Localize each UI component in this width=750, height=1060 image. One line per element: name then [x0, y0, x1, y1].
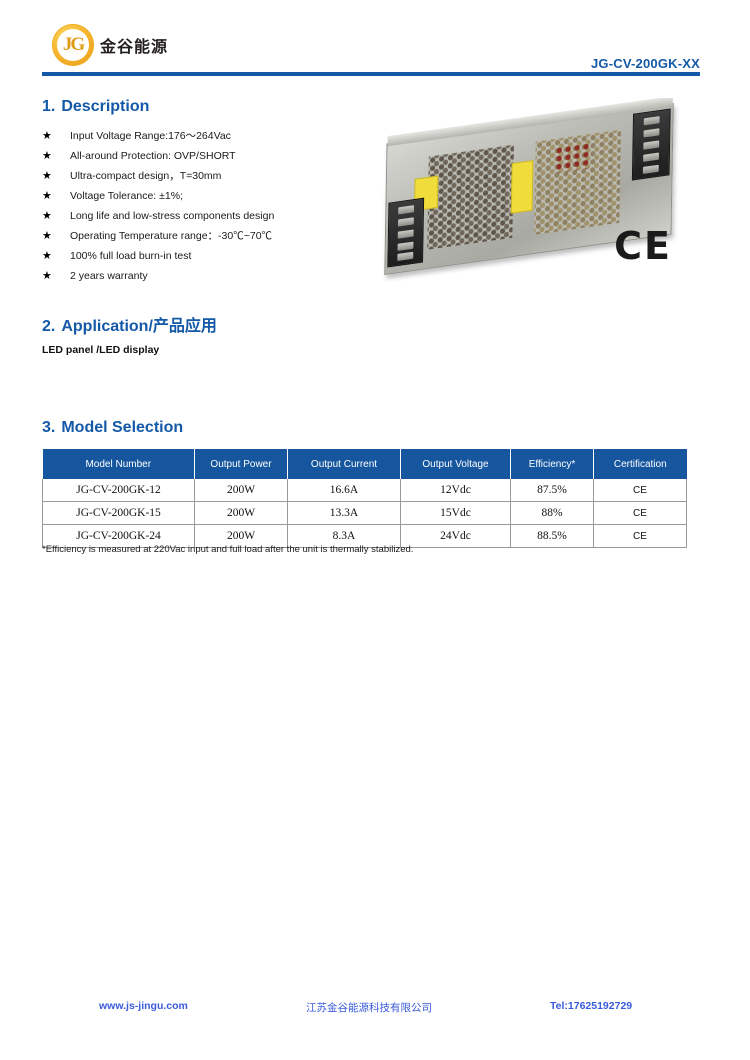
company-logo: JG 金谷能源	[52, 24, 168, 66]
star-bullet-icon: ★	[42, 206, 70, 226]
star-bullet-icon: ★	[42, 166, 70, 186]
cell-model-number: JG-CV-200GK-12	[43, 479, 195, 502]
logo-company-name: 金谷能源	[100, 33, 168, 57]
table-row: JG-CV-200GK-15 200W 13.3A 15Vdc 88% CE	[43, 502, 687, 525]
description-bullet-text: Input Voltage Range:176～264Vac	[70, 126, 231, 146]
logo-initials: JG	[52, 24, 94, 66]
cell-output-voltage: 15Vdc	[401, 502, 511, 525]
description-bullet-text: All-around Protection: OVP/SHORT	[70, 146, 236, 166]
star-bullet-icon: ★	[42, 266, 70, 286]
cell-certification: CE	[594, 525, 687, 548]
section-heading-application: 2.Application/产品应用	[42, 312, 217, 336]
model-selection-table: Model Number Output Power Output Current…	[42, 449, 687, 548]
list-item: ★ Long life and low-stress components de…	[42, 206, 372, 226]
application-text: LED panel /LED display	[42, 344, 159, 356]
column-header-certification: Certification	[594, 449, 687, 479]
star-bullet-icon: ★	[42, 246, 70, 266]
star-bullet-icon: ★	[42, 126, 70, 146]
section-number-2: 2.	[42, 318, 55, 335]
product-photo: CE	[378, 98, 688, 283]
footer-telephone: Tel:17625192729	[550, 1000, 632, 1012]
column-header-model-number: Model Number	[43, 449, 195, 479]
yellow-label-center	[511, 160, 534, 214]
footer-company-name: 江苏金谷能源科技有限公司	[306, 1000, 432, 1015]
description-bullet-text: 2 years warranty	[70, 266, 148, 286]
cell-efficiency: 88%	[511, 502, 594, 525]
vent-holes-left	[427, 145, 514, 250]
list-item: ★ Operating Temperature range：-30℃~70℃	[42, 226, 372, 246]
cell-output-current: 13.3A	[288, 502, 401, 525]
table-header-row: Model Number Output Power Output Current…	[43, 449, 687, 479]
table-row: JG-CV-200GK-12 200W 16.6A 12Vdc 87.5% CE	[43, 479, 687, 502]
cell-efficiency: 88.5%	[511, 525, 594, 548]
cell-model-number: JG-CV-200GK-15	[43, 502, 195, 525]
section-title-description: Description	[61, 98, 149, 115]
section-number-3: 3.	[42, 419, 55, 436]
footer-website-link[interactable]: www.js-jingu.com	[99, 1000, 188, 1012]
column-header-output-voltage: Output Voltage	[401, 449, 511, 479]
header-model-code: JG-CV-200GK-XX	[591, 56, 700, 71]
description-bullet-text: Operating Temperature range：-30℃~70℃	[70, 226, 272, 246]
header-divider	[42, 72, 700, 76]
cell-certification: CE	[594, 502, 687, 525]
column-header-output-power: Output Power	[195, 449, 288, 479]
section-number-1: 1.	[42, 98, 55, 115]
list-item: ★ All-around Protection: OVP/SHORT	[42, 146, 372, 166]
vent-holes-red-accent	[555, 142, 589, 173]
description-bullet-text: Long life and low-stress components desi…	[70, 206, 274, 226]
cell-output-power: 200W	[195, 479, 288, 502]
ce-mark-icon: CE	[614, 227, 672, 265]
efficiency-footnote: *Efficiency is measured at 220Vac input …	[42, 544, 413, 555]
jg-monogram-icon: JG	[52, 24, 94, 66]
cell-certification: CE	[594, 479, 687, 502]
section-title-model-selection: Model Selection	[61, 419, 183, 436]
terminal-block-left	[387, 198, 424, 268]
page-footer: www.js-jingu.com 江苏金谷能源科技有限公司 Tel:176251…	[0, 1000, 750, 1020]
star-bullet-icon: ★	[42, 186, 70, 206]
star-bullet-icon: ★	[42, 146, 70, 166]
cell-output-voltage: 24Vdc	[401, 525, 511, 548]
section-title-application: Application/产品应用	[61, 318, 217, 335]
column-header-output-current: Output Current	[288, 449, 401, 479]
description-bullet-text: Voltage Tolerance: ±1%;	[70, 186, 183, 206]
list-item: ★ Voltage Tolerance: ±1%;	[42, 186, 372, 206]
description-bullet-text: 100% full load burn-in test	[70, 246, 191, 266]
list-item: ★ 100% full load burn-in test	[42, 246, 372, 266]
cell-output-power: 200W	[195, 502, 288, 525]
description-bullet-text: Ultra-compact design，T=30mm	[70, 166, 221, 186]
cell-efficiency: 87.5%	[511, 479, 594, 502]
cell-output-voltage: 12Vdc	[401, 479, 511, 502]
section-heading-model-selection: 3.Model Selection	[42, 419, 183, 437]
star-bullet-icon: ★	[42, 226, 70, 246]
page-header: JG 金谷能源 JG-CV-200GK-XX	[0, 0, 750, 82]
list-item: ★ Ultra-compact design，T=30mm	[42, 166, 372, 186]
list-item: ★ 2 years warranty	[42, 266, 372, 286]
list-item: ★ Input Voltage Range:176～264Vac	[42, 126, 372, 146]
description-bullet-list: ★ Input Voltage Range:176～264Vac ★ All-a…	[42, 126, 372, 286]
column-header-efficiency: Efficiency*	[511, 449, 594, 479]
terminal-block-right	[632, 108, 671, 180]
psu-top-edge	[387, 98, 672, 146]
cell-output-current: 16.6A	[288, 479, 401, 502]
section-heading-description: 1.Description	[42, 98, 149, 116]
